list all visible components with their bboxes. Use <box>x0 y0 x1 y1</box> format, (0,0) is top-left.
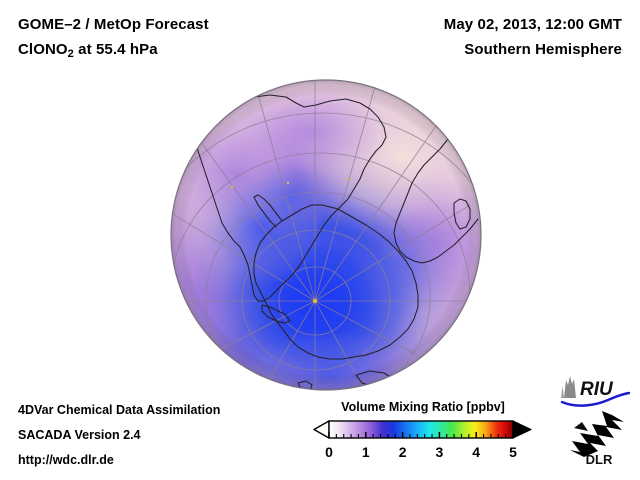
riu-logo-svg: RIU <box>560 372 632 408</box>
colorbar-right-arrow-cap <box>513 421 531 438</box>
page-title-instrument: GOME–2 / MetOp Forecast <box>18 16 209 33</box>
colorbar-tick-label: 4 <box>464 444 488 460</box>
coastline-arabia <box>470 135 480 149</box>
station-marker-2 <box>287 182 289 184</box>
timestamp-label: May 02, 2013, 12:00 GMT <box>444 16 622 33</box>
riu-wordmark: RIU <box>580 379 614 400</box>
page-title-species: ClONO2 at 55.4 hPa <box>18 41 158 60</box>
coastline-south-island <box>242 383 262 391</box>
colorbar-tick-label: 3 <box>427 444 451 460</box>
dlr-mark-icon <box>570 411 624 457</box>
footer-version: SACADA Version 2.4 <box>18 428 141 442</box>
globe-map <box>170 79 482 391</box>
coastline-new-zealand <box>214 367 240 385</box>
orthographic-projection-svg <box>170 79 482 391</box>
station-marker-1 <box>231 186 233 188</box>
region-label: Southern Hemisphere <box>464 41 622 58</box>
colorbar-tick-label: 5 <box>501 444 525 460</box>
station-marker-3 <box>347 178 349 180</box>
colorbar-tick-label: 2 <box>391 444 415 460</box>
dlr-logo: DLR <box>568 410 630 466</box>
species-level: at 55.4 hPa <box>74 41 158 58</box>
colorbar: Volume Mixing Ratio [ppbv] 012345 <box>312 400 534 472</box>
colorbar-gradient <box>312 419 534 444</box>
colorbar-tick-labels: 012345 <box>312 444 534 466</box>
riu-spike-icon <box>561 376 576 398</box>
dlr-wordmark: DLR <box>586 452 613 466</box>
colorbar-left-arrow-cap <box>314 421 329 438</box>
visualization-page: GOME–2 / MetOp Forecast ClONO2 at 55.4 h… <box>0 0 640 480</box>
colorbar-body <box>329 421 513 438</box>
dlr-logo-svg: DLR <box>568 410 630 466</box>
riu-logo: RIU <box>560 372 632 408</box>
footer-method: 4DVar Chemical Data Assimilation <box>18 403 220 417</box>
species-name: ClONO <box>18 41 68 58</box>
south-pole-marker <box>313 299 317 303</box>
footer-url[interactable]: http://wdc.dlr.de <box>18 453 114 467</box>
colorbar-tick-label: 0 <box>317 444 341 460</box>
colorbar-tick-label: 1 <box>354 444 378 460</box>
limb-shading <box>171 80 481 390</box>
colorbar-title: Volume Mixing Ratio [ppbv] <box>312 400 534 414</box>
